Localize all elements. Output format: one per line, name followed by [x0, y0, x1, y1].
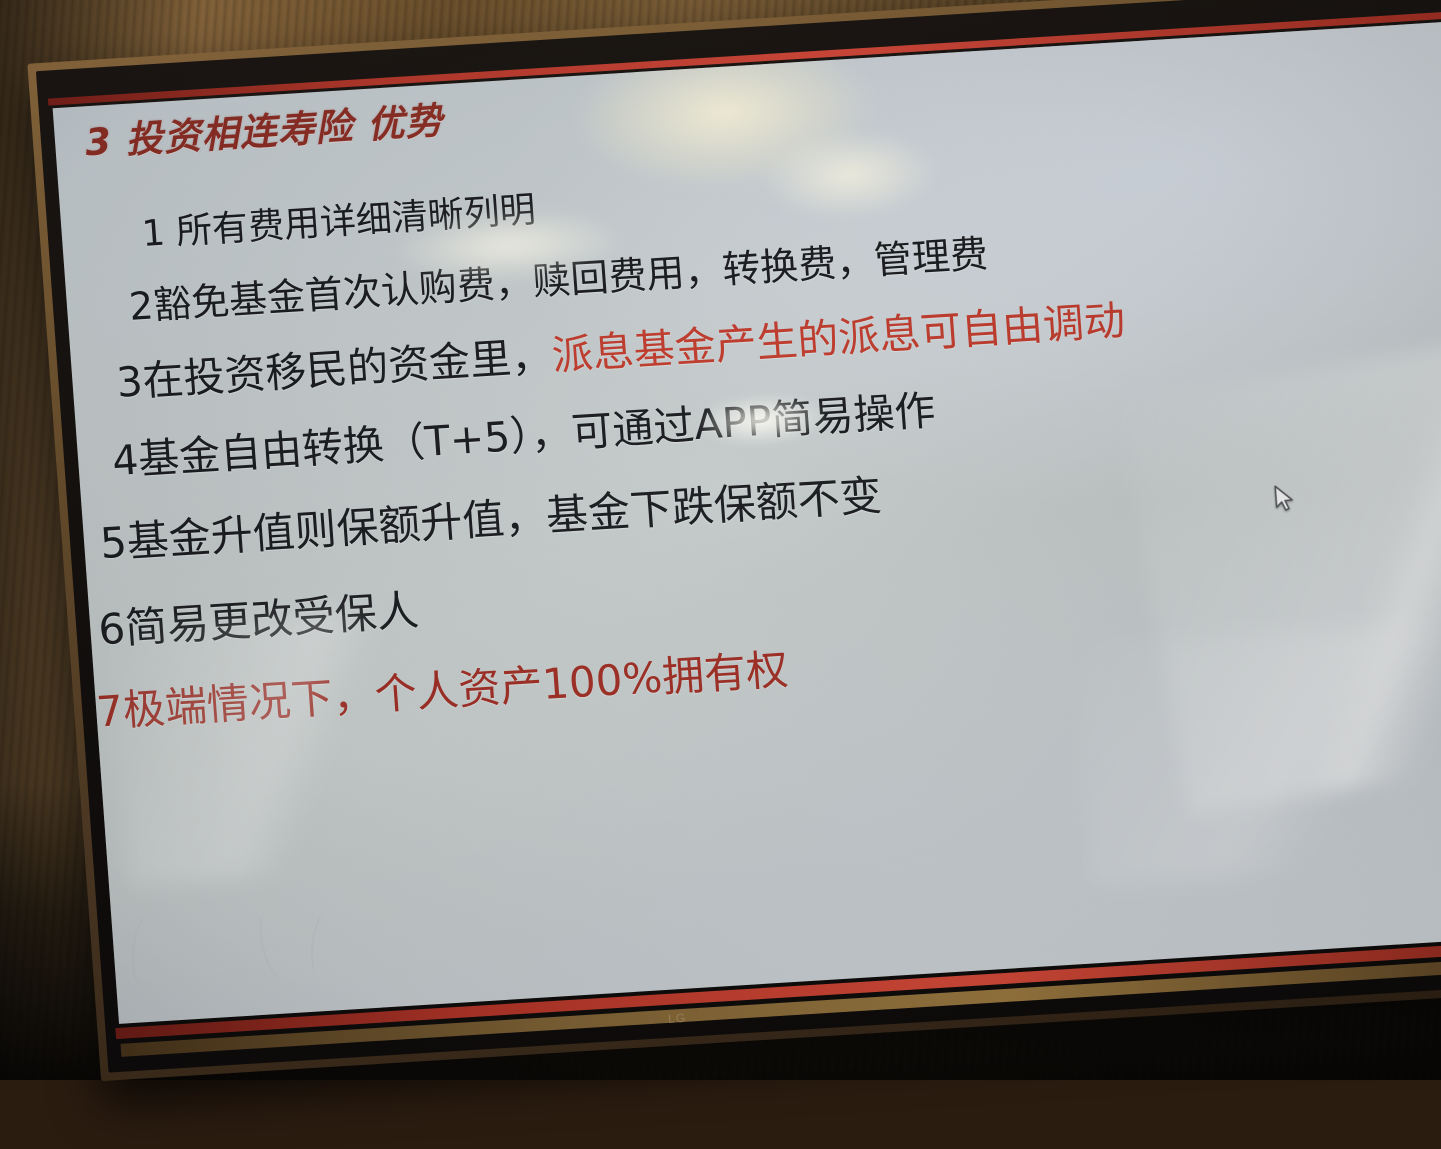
tv-display-panel: 3 投资相连寿险 优势 1 所有费用详细清晰列明 2豁免基金首次认购费，赎回费用…	[53, 19, 1441, 1024]
television-assembly: 3 投资相连寿险 优势 1 所有费用详细清晰列明 2豁免基金首次认购费，赎回费用…	[0, 0, 1441, 1149]
tv-brand-logo: LG	[668, 1011, 687, 1026]
screen-vignette	[53, 19, 1441, 1024]
